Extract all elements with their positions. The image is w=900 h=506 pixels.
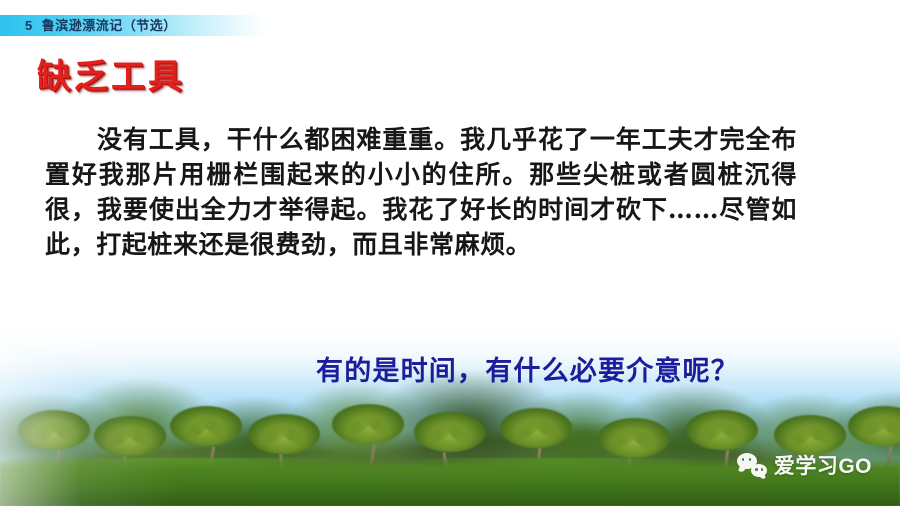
highlight-question: 有的是时间，有什么必要介意呢？ — [316, 349, 739, 388]
palm-tree — [330, 404, 406, 464]
breadcrumb: 5鲁滨逊漂流记（节选） — [25, 16, 177, 35]
watermark: 爱学习GO — [737, 450, 872, 480]
wechat-icon — [737, 453, 767, 477]
page-title: 缺乏工具 — [37, 60, 185, 94]
lesson-title: 鲁滨逊漂流记（节选） — [42, 18, 177, 33]
slide-canvas: 5鲁滨逊漂流记（节选） 缺乏工具 没有工具，干什么都困难重重。我几乎花了一年工夫… — [0, 0, 900, 506]
body-paragraph: 没有工具，干什么都困难重重。我几乎花了一年工夫才完全布置好我那片用栅栏围起来的小… — [45, 122, 797, 262]
lesson-number: 5 — [25, 18, 33, 33]
palm-tree — [168, 406, 244, 466]
watermark-label: 爱学习GO — [774, 450, 872, 480]
